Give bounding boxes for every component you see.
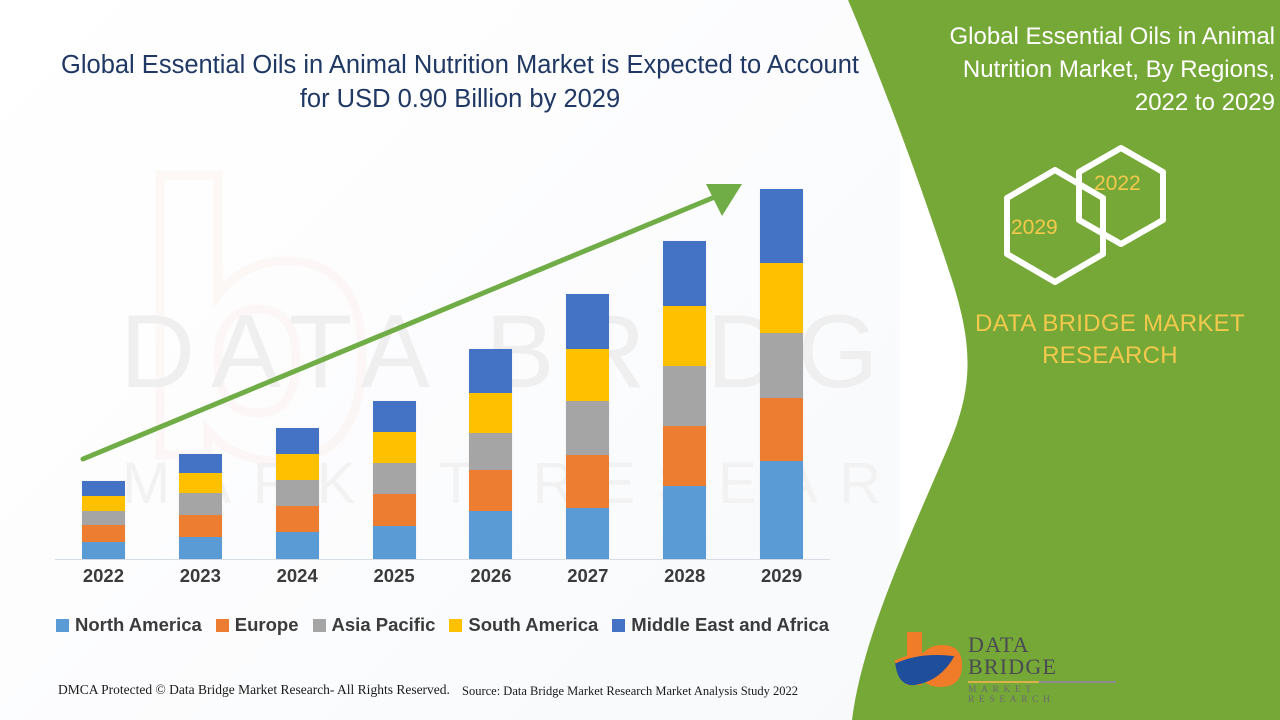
hex-label-end-year: 2029 <box>1011 216 1058 240</box>
logo-divider <box>968 681 1116 683</box>
brand-name: DATA BRIDGE MARKET RESEARCH <box>960 308 1260 373</box>
logo-sub-text: MARKET RESEARCH <box>968 686 1118 705</box>
logo-main-text: DATA BRIDGE <box>968 634 1118 678</box>
hex-label-start-year: 2022 <box>1094 172 1141 196</box>
logo-mark-icon <box>893 628 965 690</box>
logo-text: DATA BRIDGE MARKET RESEARCH <box>968 634 1118 705</box>
right-panel-title: Global Essential Oils in Animal Nutritio… <box>930 20 1275 119</box>
year-hexagons: 2022 2029 <box>975 138 1190 293</box>
hexagon-outlines-icon <box>975 138 1190 293</box>
infographic-root: DATA BRIDGE MARKET RESEARCH Global Essen… <box>0 0 1280 720</box>
data-bridge-logo: DATA BRIDGE MARKET RESEARCH <box>893 628 1118 698</box>
